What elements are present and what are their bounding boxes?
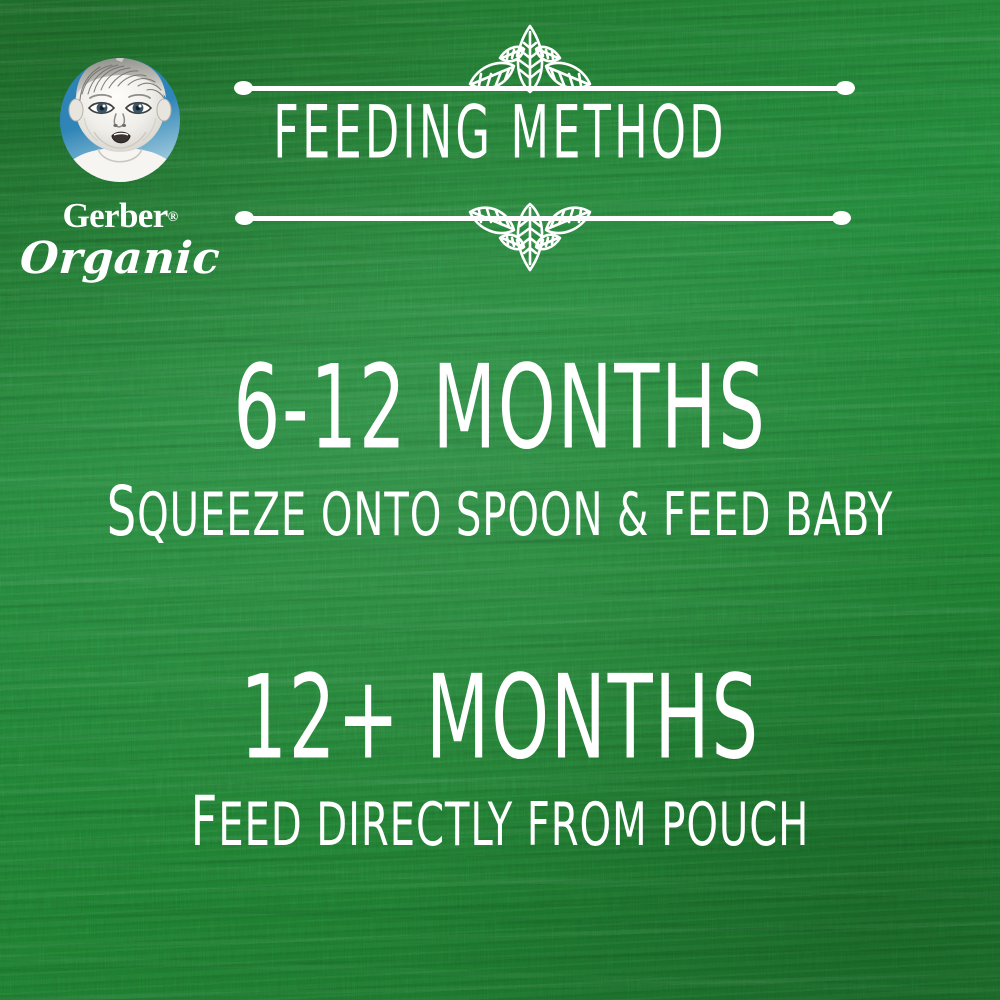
direction-initial-cap: F [191,782,219,862]
instruction-block-12-plus-months: 12+ MONTHS FEED DIRECTLY FROM POUCH [0,668,1000,852]
direction-rest: EED DIRECTLY FROM POUCH [218,791,809,859]
direction-rest: QUEEZE ONTO SPOON & FEED BABY [137,481,893,549]
gerber-organic-logo: Gerber® Organic [20,44,220,281]
feeding-direction-label: SQUEEZE ONTO SPOON & FEED BABY [70,478,930,546]
direction-initial-cap: S [107,472,137,552]
age-range-label: 12+ MONTHS [90,660,910,776]
brand-name: Gerber® [20,198,220,233]
age-range-label: 6-12 MONTHS [90,350,910,466]
instruction-block-6-12-months: 6-12 MONTHS SQUEEZE ONTO SPOON & FEED BA… [0,358,1000,542]
feeding-method-panel: FEEDING METHOD [0,0,1000,1000]
leaf-cluster-icon-bottom [466,202,594,274]
sub-brand-name: Organic [18,237,221,281]
brand-name-text: Gerber [62,196,167,235]
header-rule-bottom-right [606,216,844,221]
header-rule-bottom-left-cap [235,211,254,225]
header-rule-bottom-right-cap [832,211,851,225]
registered-mark: ® [168,210,178,225]
feeding-direction-label: FEED DIRECTLY FROM POUCH [70,788,930,856]
gerber-baby-icon [46,44,194,192]
leaf-cluster-icon-top [466,22,594,94]
header-rule-top-right-cap [836,81,855,95]
header-rule-top-left-cap [234,81,253,95]
page-title: FEEDING METHOD [100,96,900,169]
